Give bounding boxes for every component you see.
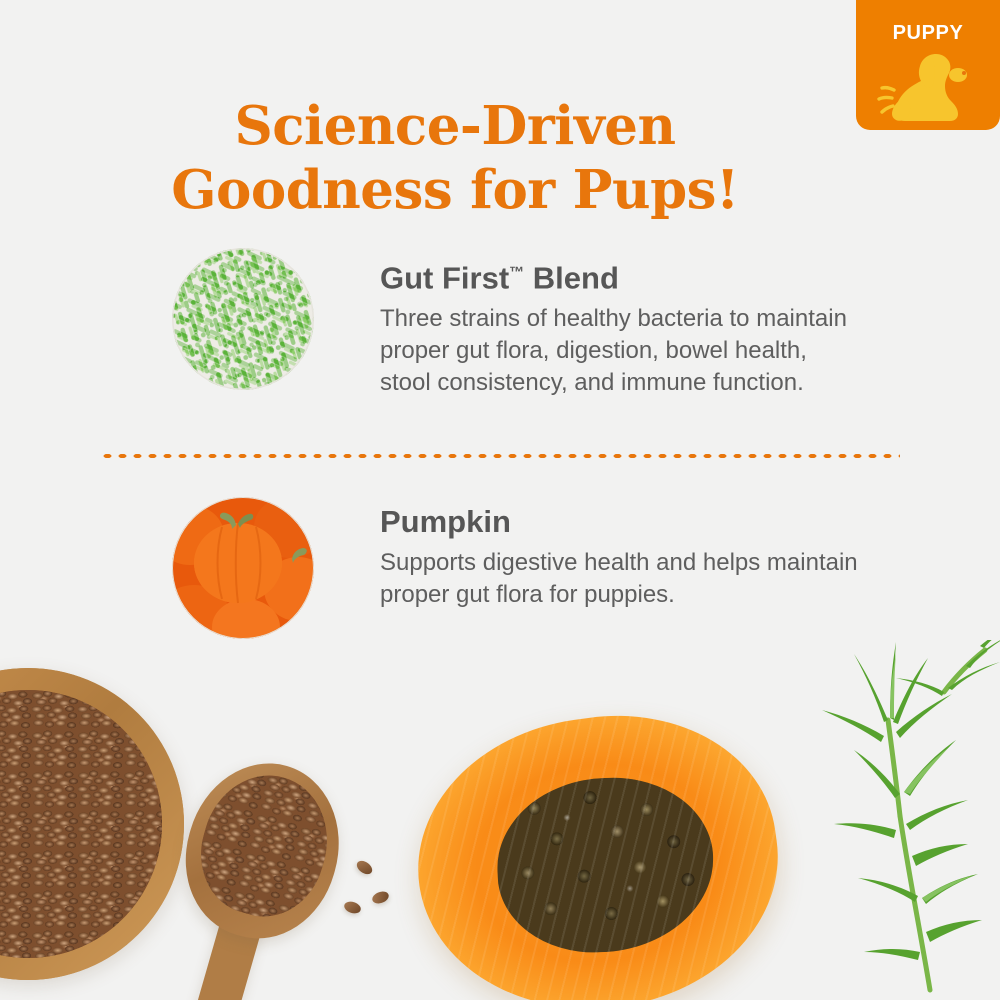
feature-description-gut-first-blend: Three strains of healthy bacteria to mai…: [380, 303, 860, 399]
feature-text-pumpkin: Pumpkin Supports digestive health and he…: [380, 497, 860, 611]
bacteria-microscopy-icon: [172, 248, 314, 390]
papaya-seeds: [495, 774, 717, 955]
page-title: Science-Driven Goodness for Pups!: [60, 94, 850, 222]
bowl-inner: [0, 690, 162, 958]
feature-row-pumpkin: Pumpkin Supports digestive health and he…: [100, 497, 900, 639]
ingredient-photo-band: [0, 640, 1000, 1000]
loose-flax-seed: [354, 858, 374, 877]
feature-row-gut-first-blend: Gut First™ Blend Three strains of health…: [100, 248, 900, 399]
feature-title-main: Gut First: [380, 260, 509, 295]
spoon-bowl: [166, 745, 359, 956]
sitting-puppy-icon: [874, 48, 984, 124]
infographic-page: PUPPY Science-Driven Goodness for Pups!: [0, 0, 1000, 1000]
flax-seeds-texture: [0, 690, 162, 958]
feature-text-gut-first-blend: Gut First™ Blend Three strains of health…: [380, 248, 860, 399]
feature-title-gut-first-blend: Gut First™ Blend: [380, 254, 860, 297]
flax-seed-bowl-image: [0, 668, 184, 980]
rosemary-sprigs-image: [780, 640, 1000, 1000]
loose-flax-seed: [343, 900, 363, 916]
halved-papaya-image: [400, 694, 797, 1000]
feature-title-pumpkin: Pumpkin: [380, 503, 860, 541]
page-title-line-2: Goodness for Pups!: [60, 158, 850, 222]
flax-seeds-texture: [186, 761, 343, 930]
pumpkins-icon: [172, 497, 314, 639]
pumpkins-image: [172, 497, 314, 639]
feature-title-suffix: Blend: [524, 260, 619, 295]
trademark-symbol: ™: [509, 264, 524, 281]
bacteria-microscopy-image: [172, 248, 314, 390]
page-title-line-1: Science-Driven: [235, 95, 676, 157]
papaya-seed-cavity: [495, 774, 717, 955]
puppy-badge-label: PUPPY: [856, 22, 1000, 45]
papaya-flesh: [400, 694, 797, 1000]
loose-flax-seed: [371, 889, 391, 905]
dotted-divider: [100, 452, 900, 460]
spoon-seeds: [186, 761, 343, 930]
feature-description-pumpkin: Supports digestive health and helps main…: [380, 547, 860, 611]
puppy-badge: PUPPY: [856, 0, 1000, 130]
feature-title-main: Pumpkin: [380, 504, 511, 539]
